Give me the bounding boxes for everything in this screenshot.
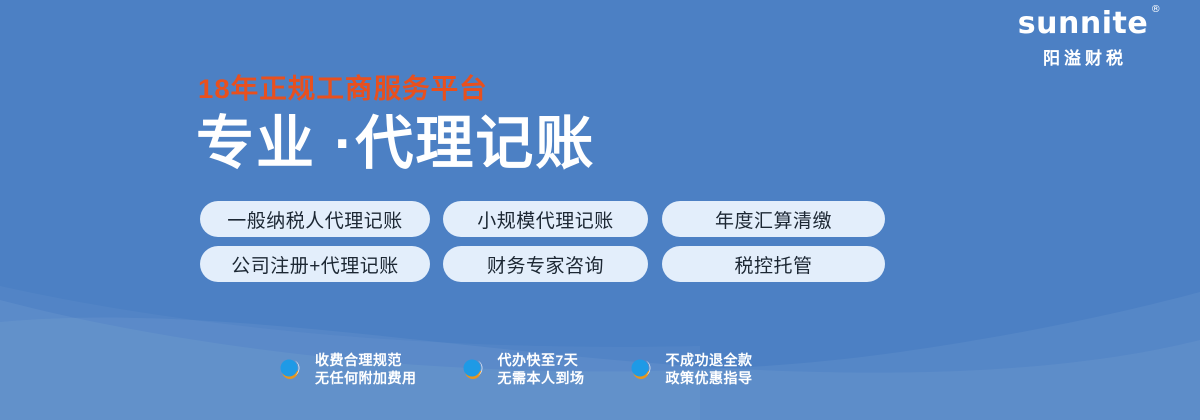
feature-item-pricing: 收费合理规范 无任何附加费用 (276, 351, 417, 387)
feature-item-speed: 代办快至7天 无需本人到场 (459, 351, 585, 387)
feature-line-1: 代办快至7天 (498, 351, 585, 369)
registered-trademark-icon: ® (1151, 5, 1162, 15)
moon-circle-icon (627, 354, 657, 384)
feature-line-2: 无任何附加费用 (315, 369, 417, 387)
service-pill-tax-control-hosting[interactable]: 税控托管 (662, 246, 885, 282)
service-pill-row: 公司注册+代理记账 财务专家咨询 税控托管 (200, 246, 885, 282)
logo-wordmark-text: sunnite (1018, 6, 1148, 41)
service-pill-company-registration-bookkeeping[interactable]: 公司注册+代理记账 (200, 246, 430, 282)
logo-chinese-name: 阳溢财税 (988, 44, 1178, 69)
service-pill-row: 一般纳税人代理记账 小规模代理记账 年度汇算清缴 (200, 201, 885, 237)
logo-wordmark: sunnite ® (1018, 8, 1148, 40)
service-pill-finance-expert-consulting[interactable]: 财务专家咨询 (443, 246, 648, 282)
feature-strip: 收费合理规范 无任何附加费用 代办快至7天 无需本人到场 (276, 351, 753, 387)
feature-line-2: 政策优惠指导 (666, 369, 753, 387)
feature-line-1: 收费合理规范 (315, 351, 417, 369)
moon-circle-icon (276, 354, 306, 384)
feature-text-guarantee: 不成功退全款 政策优惠指导 (666, 351, 753, 387)
service-pill-annual-settlement[interactable]: 年度汇算清缴 (662, 201, 885, 237)
promo-banner: sunnite ® 阳溢财税 18年正规工商服务平台 专业 ·代理记账 一般纳税… (0, 0, 1200, 420)
service-pill-grid: 一般纳税人代理记账 小规模代理记账 年度汇算清缴 公司注册+代理记账 财务专家咨… (200, 201, 885, 291)
feature-text-pricing: 收费合理规范 无任何附加费用 (315, 351, 417, 387)
brand-logo[interactable]: sunnite ® 阳溢财税 (988, 8, 1178, 69)
feature-line-1: 不成功退全款 (666, 351, 753, 369)
moon-circle-icon (459, 354, 489, 384)
hero-headline: 专业 ·代理记账 (196, 112, 595, 176)
feature-item-guarantee: 不成功退全款 政策优惠指导 (627, 351, 753, 387)
feature-line-2: 无需本人到场 (498, 369, 585, 387)
service-pill-general-taxpayer-bookkeeping[interactable]: 一般纳税人代理记账 (200, 201, 430, 237)
feature-text-speed: 代办快至7天 无需本人到场 (498, 351, 585, 387)
service-pill-small-scale-bookkeeping[interactable]: 小规模代理记账 (443, 201, 648, 237)
hero-tagline: 18年正规工商服务平台 (198, 76, 488, 103)
